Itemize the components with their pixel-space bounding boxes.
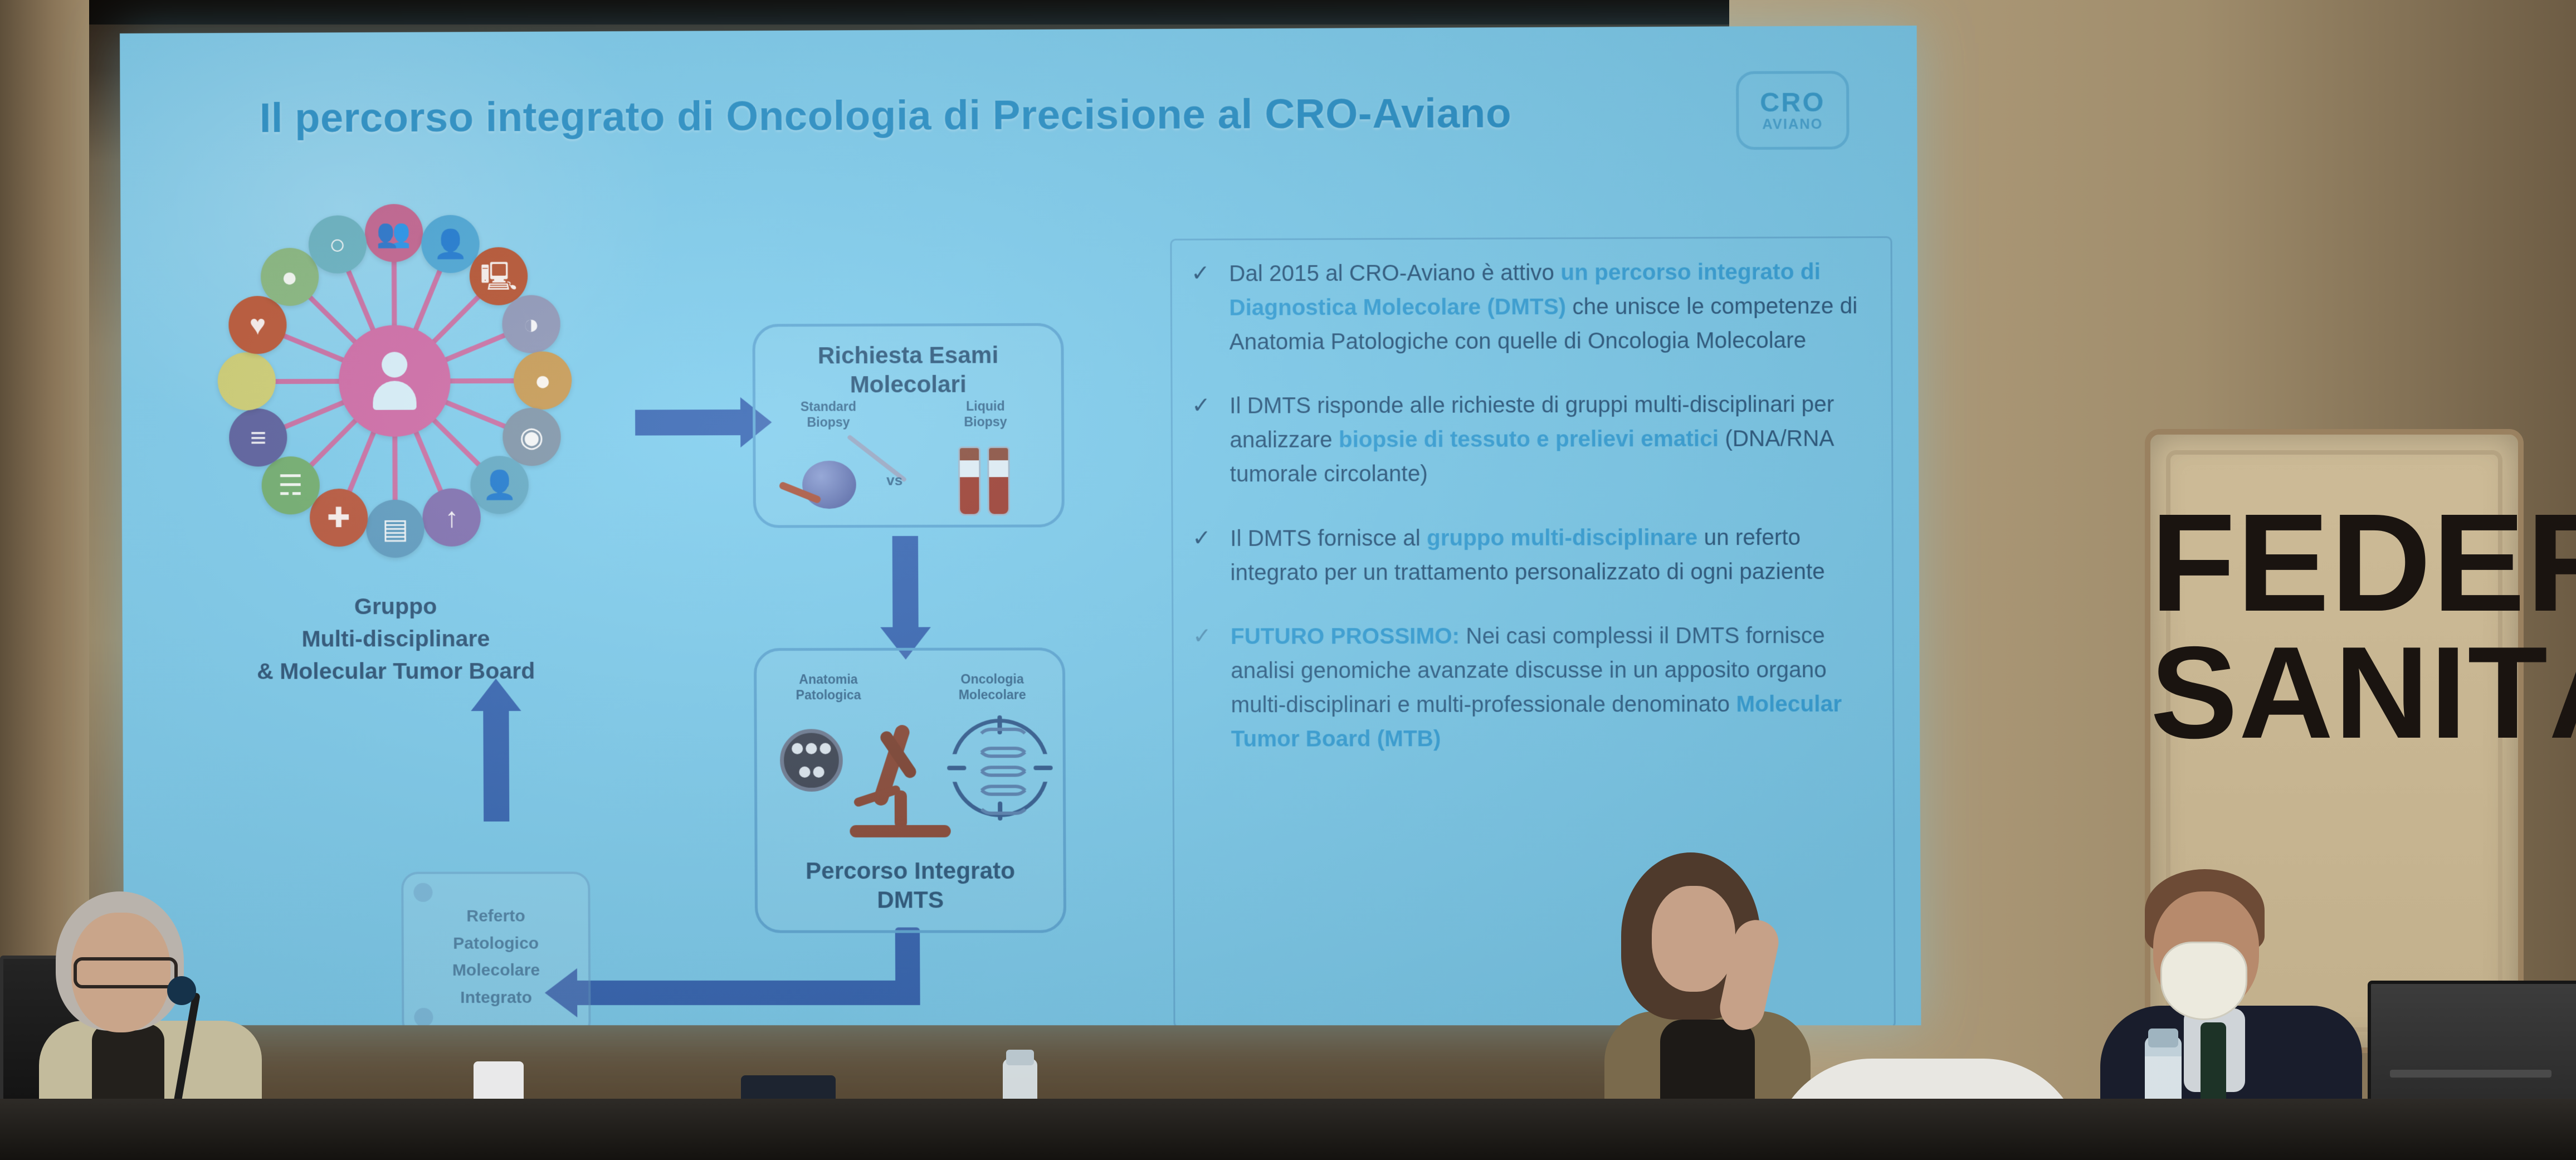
hub-node-group-icon: 👥 [365,204,423,262]
bullet-text: Il DMTS risponde alle richieste di grupp… [1230,388,1872,491]
logo-aviano-text: AVIANO [1762,117,1823,131]
apple-icon: ● [281,263,297,291]
arrow-right-icon [635,410,741,436]
flow-box-1-title: Richiesta Esami Molecolari [755,340,1061,399]
bullet-plain: Dal 2015 al CRO-Aviano è attivo [1229,260,1560,286]
hub-nodes: 👥👤🖳◑●◉👤↑▤✚☴≡♥●○ [187,182,601,184]
logo-cro-text: CRO [1760,89,1826,116]
anatomia-line-1: Anatomia [775,672,881,688]
referto-integrato-box: Referto Patologico Molecolare Integrato [401,871,591,1025]
group-icon: 👥 [377,219,412,247]
sign-line-2: SANITÀ [2150,630,2518,756]
hub-node-dna-icon: ☴ [261,456,320,514]
bullet-item: ✓Dal 2015 al CRO-Aviano è attivo un perc… [1191,255,1872,359]
syringe-icon: ↑ [445,503,458,531]
standard-biopsy-label: Standard Biopsy [775,399,881,430]
oncologia-line-2: Molecolare [939,687,1046,703]
hub-node-hand-heart-icon: ♥ [228,296,287,354]
hub-caption: Gruppo Multi-disciplinare & Molecular Tu… [155,589,636,688]
hub-node-eye-icon: ◉ [502,408,561,466]
anatomia-line-2: Patologica [775,688,881,703]
oncologia-line-1: Oncologia [939,672,1046,688]
water-bottle-right-cap [2148,1029,2178,1047]
hub-node-lungs-icon: ◑ [502,295,560,353]
bullet-highlight: gruppo multi-disciplinare [1427,525,1697,550]
bullet-highlight: FUTURO PROSSIMO: [1231,624,1460,649]
stamp-icon: 🖳 [480,262,518,290]
face-mask [2160,942,2247,1020]
lungs-icon: ◑ [523,310,540,338]
patient-icon [373,352,417,410]
dna-target-icon [950,719,1050,817]
hub-center-patient [339,325,451,437]
panel-table [0,1099,2576,1160]
ghost-dot-top [413,883,432,902]
cross-icon: ✚ [327,504,350,532]
checkmark-icon: ✓ [1192,522,1211,590]
liquid-biopsy-line-2: Biopsy [932,414,1039,430]
hub-node-apple-icon: ● [260,247,319,305]
arrow-left-icon [576,981,920,1005]
checkmark-icon: ✓ [1191,257,1211,359]
hub-caption-line-3: & Molecular Tumor Board [156,655,636,688]
liquid-biopsy-line-1: Liquid [932,399,1039,415]
sign-text: FEDER SANITÀ [2150,496,2518,756]
arrow-up-icon [483,710,509,821]
doctor-icon: 👤 [433,230,469,258]
conference-room-photo: FEDER SANITÀ Il percorso integrato di On… [0,0,2576,1160]
blood-vial-icon-2 [987,446,1010,516]
hub-node-cross-icon: ✚ [309,489,368,547]
liquid-biopsy-label: Liquid Biopsy [932,399,1039,430]
slide-title: Il percorso integrato di Oncologia di Pr… [260,88,1776,142]
dumbbell-icon: ≡ [250,424,266,452]
bullet-text: FUTURO PROSSIMO: Nei casi complessi il D… [1231,619,1874,756]
standard-biopsy-line-1: Standard [775,399,881,415]
hub-node-syringe-icon: ↑ [423,488,481,546]
water-bottle-center-cap [1006,1050,1034,1065]
hub-node-chart-icon: ▤ [366,500,425,558]
hub-node-blank-icon [218,352,276,410]
checkmark-icon: ✓ [1192,389,1211,491]
referto-lines: Referto Patologico Molecolare Integrato [403,903,588,1012]
anatomia-patologica-label: Anatomia Patologica [775,672,881,703]
dna-icon: ☴ [278,472,303,500]
sign-line-1: FEDER [2150,496,2518,630]
microphone-head [167,976,196,1005]
bullet-item: ✓FUTURO PROSSIMO: Nei casi complessi il … [1193,619,1874,756]
hub-node-doctor-icon: 👤 [422,215,480,274]
flow-box-2-footer-line-2: DMTS [758,885,1063,915]
flow-box-1-title-line-1: Richiesta Esami [755,340,1061,371]
referto-line-3: Molecolare [404,957,588,984]
hand-heart-icon: ♥ [250,311,266,339]
tooth-icon: ○ [329,231,345,259]
chart-icon: ▤ [382,515,409,543]
bullet-text: Il DMTS fornisce al gruppo multi-discipl… [1230,520,1873,590]
bullet-item: ✓Il DMTS risponde alle richieste di grup… [1192,388,1872,492]
speaker-grille-line [2390,1070,2551,1078]
referto-line-2: Patologico [404,930,588,957]
hub-node-person-icon: 👤 [471,456,529,514]
blood-vial-icon-1 [958,446,981,516]
arrow-down-icon [892,536,919,628]
bullet-highlight: biopsie di tessuto e prelievi ematici [1339,427,1719,452]
hub-node-dumbbell-icon: ≡ [229,409,287,467]
cell-sample-icon [780,729,843,791]
bullet-item: ✓Il DMTS fornisce al gruppo multi-discip… [1192,520,1873,590]
hub-caption-line-2: Multi-disciplinare [156,622,636,656]
flow-box-2-footer-line-1: Percorso Integrato [758,856,1063,886]
cro-aviano-logo: CRO AVIANO [1736,71,1850,150]
bullet-plain: Il DMTS fornisce al [1230,526,1427,551]
pill-icon: ● [534,367,552,394]
hub-node-pill-icon: ● [514,352,572,410]
multidisciplinary-hub-diagram: 👥👤🖳◑●◉👤↑▤✚☴≡♥●○ [187,182,602,574]
vs-label: vs [886,472,902,489]
referto-line-1: Referto [403,903,588,930]
oncologia-molecolare-label: Oncologia Molecolare [939,672,1046,703]
bullet-text: Dal 2015 al CRO-Aviano è attivo un perco… [1229,255,1872,359]
eye-icon: ◉ [519,423,544,451]
referto-line-4: Integrato [404,984,588,1012]
person-icon: 👤 [482,471,518,499]
standard-biopsy-line-2: Biopsy [775,415,881,430]
flow-box-1-title-line-2: Molecolari [755,369,1061,399]
checkmark-icon: ✓ [1193,620,1212,756]
microscope-icon [850,723,951,844]
hub-spokes [187,182,601,184]
hub-node-tooth-icon: ○ [308,216,367,274]
tumor-cluster-icon [802,461,856,509]
hub-node-stamp-icon: 🖳 [470,247,528,305]
hub-caption-line-1: Gruppo [155,589,636,623]
flow-box-2-footer: Percorso Integrato DMTS [758,856,1063,915]
eyeglasses [74,957,178,988]
